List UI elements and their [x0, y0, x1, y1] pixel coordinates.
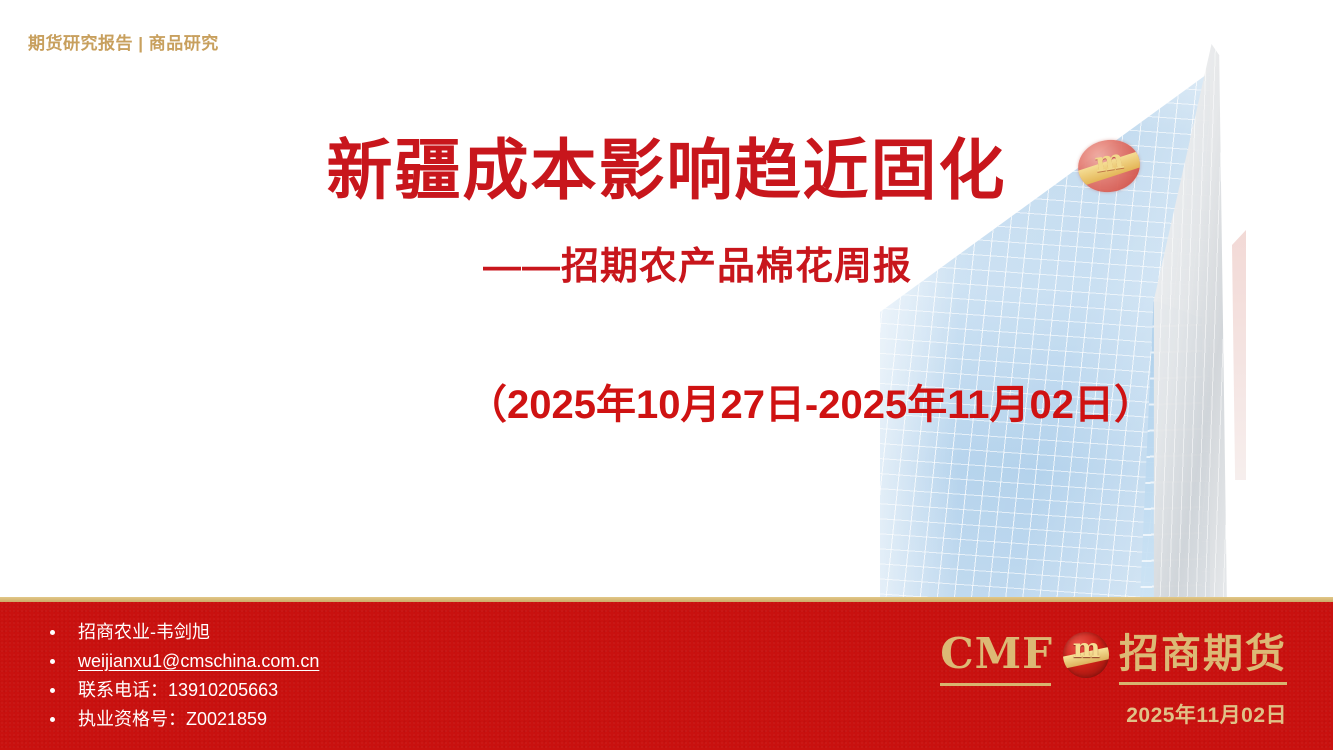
- tower-window-grid: [880, 0, 1210, 600]
- publish-date: 2025年11月02日: [1126, 699, 1287, 729]
- tower-glass-sheen: [880, 0, 1210, 600]
- list-item: 招商农业-韦剑旭: [44, 618, 319, 647]
- bullet-icon: [50, 688, 55, 693]
- office-tower-photo: m: [840, 0, 1333, 600]
- list-item: 联系电话：13910205663: [44, 676, 319, 705]
- footer-bar: 招商农业-韦剑旭 weijianxu1@cmschina.com.cn 联系电话…: [0, 597, 1333, 750]
- contact-author: 招商农业-韦剑旭: [78, 622, 210, 642]
- footer-gold-rule: [0, 597, 1333, 602]
- report-date-range: （2025年10月27日-2025年11月02日）: [0, 382, 1333, 428]
- report-category-kicker: 期货研究报告 | 商品研究: [28, 29, 219, 54]
- page-subtitle: ——招期农产品棉花周报: [0, 246, 1333, 290]
- report-cover-slide: m 期货研究报告 | 商品研究 新疆成本影响趋近固化 ——招期农产品棉花周报 （…: [0, 0, 1333, 750]
- bullet-icon: [50, 659, 55, 664]
- tower-glass-wedge: [1140, 300, 1202, 600]
- brand-lockup: CMF m 招商期货 2025年11月02日: [957, 629, 1287, 729]
- contact-phone: 联系电话：13910205663: [78, 680, 278, 700]
- brand-emblem-mark: m: [1063, 636, 1109, 662]
- list-item: weijianxu1@cmschina.com.cn: [44, 647, 319, 676]
- bullet-icon: [50, 630, 55, 635]
- brand-chinese-wordmark: 招商期货: [1119, 634, 1287, 682]
- photo-left-fade: [840, 0, 1333, 600]
- bullet-icon: [50, 717, 55, 722]
- contact-list: 招商农业-韦剑旭 weijianxu1@cmschina.com.cn 联系电话…: [44, 618, 319, 734]
- brand-row: CMF m 招商期货: [957, 629, 1287, 687]
- tower-wedge-ribs: [1140, 300, 1202, 600]
- brand-latin-wordmark: CMF: [940, 633, 1053, 683]
- contact-license: 执业资格号：Z0021859: [78, 709, 267, 729]
- contact-email-link[interactable]: weijianxu1@cmschina.com.cn: [78, 651, 319, 671]
- tower-spire: [1152, 44, 1248, 600]
- tower-spire-ribs: [1152, 44, 1248, 600]
- list-item: 执业资格号：Z0021859: [44, 705, 319, 734]
- tower-main-facade: [880, 0, 1210, 600]
- page-title: 新疆成本影响趋近固化: [0, 135, 1333, 206]
- brand-emblem-icon: m: [1063, 632, 1109, 678]
